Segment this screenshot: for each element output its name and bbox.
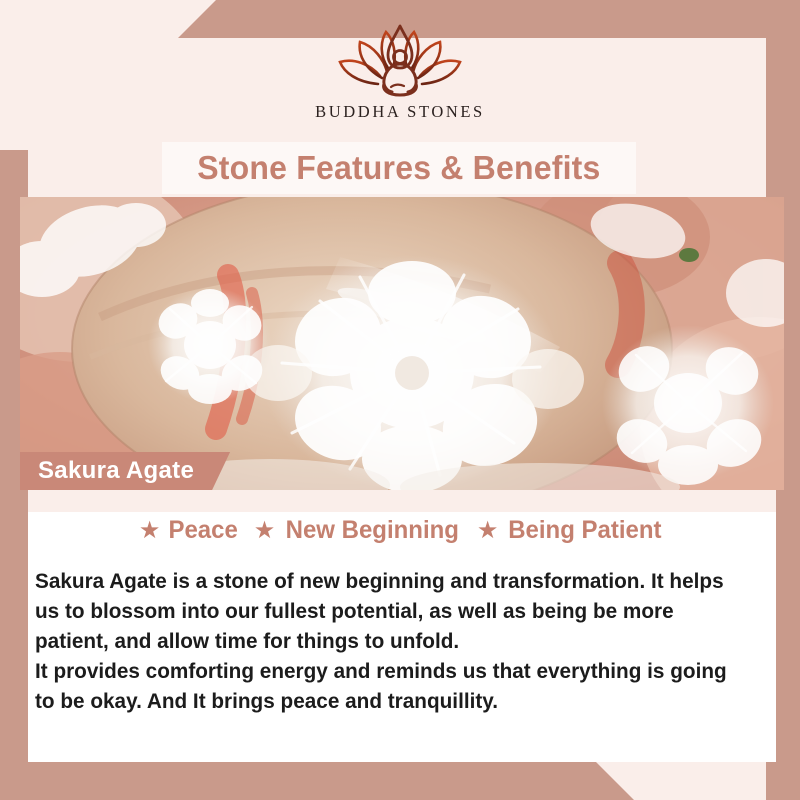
star-icon: ★ bbox=[254, 519, 276, 543]
brand-wordmark: BUDDHA STONES bbox=[315, 102, 485, 122]
keyword-label: New Beginning bbox=[286, 516, 459, 545]
sakura-agate-stone-photo bbox=[20, 197, 784, 490]
description-paragraph-2: It provides comforting energy and remind… bbox=[35, 656, 747, 716]
keyword-label: Being Patient bbox=[509, 516, 662, 545]
stone-name-banner: Sakura Agate bbox=[20, 452, 230, 490]
keyword-item-peace: ★ Peace bbox=[139, 516, 240, 545]
brand-header: BUDDHA STONES bbox=[0, 0, 800, 140]
keyword-item-being-patient: ★ Being Patient bbox=[477, 516, 665, 545]
star-icon: ★ bbox=[477, 519, 499, 543]
keyword-row: ★ Peace ★ New Beginning ★ Being Patient bbox=[28, 516, 776, 545]
stone-name-label: Sakura Agate bbox=[38, 457, 194, 485]
star-icon: ★ bbox=[139, 519, 161, 543]
keyword-item-new-beginning: ★ New Beginning bbox=[254, 516, 463, 545]
page-title-plaque: Stone Features & Benefits bbox=[162, 142, 636, 194]
lotus-meditation-icon bbox=[334, 22, 466, 98]
panel-top-tint bbox=[28, 490, 776, 512]
page-title: Stone Features & Benefits bbox=[197, 149, 600, 187]
stone-description: Sakura Agate is a stone of new beginning… bbox=[35, 566, 747, 716]
keyword-label: Peace bbox=[169, 516, 238, 545]
frame-bottom-bar bbox=[0, 762, 800, 800]
description-paragraph-1: Sakura Agate is a stone of new beginning… bbox=[35, 566, 747, 656]
stone-benefits-infographic: BUDDHA STONES Stone Features & Benefits bbox=[0, 0, 800, 800]
